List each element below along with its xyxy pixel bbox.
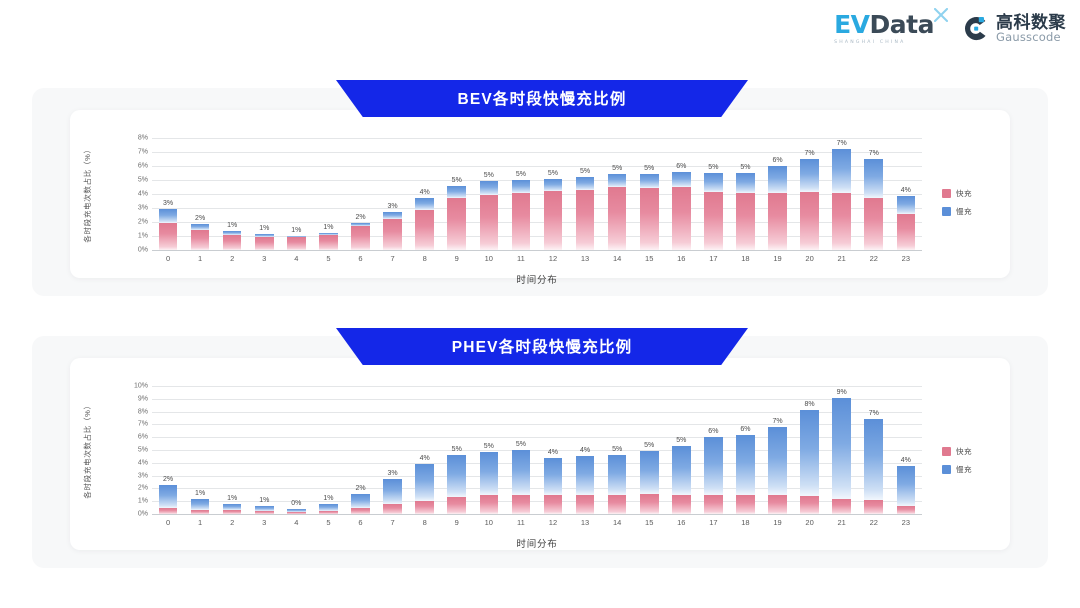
x-axis-tick: 9 <box>455 255 459 263</box>
bar-segment-slow-charge[interactable] <box>672 172 691 187</box>
bar-value-label: 5% <box>708 164 718 171</box>
x-axis-tick: 1 <box>198 519 202 527</box>
bar-column[interactable]: 5%15 <box>633 138 665 250</box>
bar-column[interactable]: 5%9 <box>441 138 473 250</box>
bar-group: 2%01%11%21%30%41%52%63%74%85%95%105%114%… <box>152 386 922 514</box>
x-axis-tick: 14 <box>613 255 621 263</box>
bar-segment-fast-charge[interactable] <box>768 193 787 250</box>
gausscode-logo: 高科数聚 Gausscode <box>962 14 1066 44</box>
bar-segment-fast-charge[interactable] <box>672 495 691 514</box>
bar-segment-fast-charge[interactable] <box>191 510 210 514</box>
bar-value-label: 5% <box>676 437 686 444</box>
bar-column[interactable]: 5%16 <box>665 386 697 514</box>
bar-column[interactable]: 1%3 <box>248 138 280 250</box>
bar-segment-slow-charge[interactable] <box>544 458 563 496</box>
x-axis-tick: 11 <box>517 255 525 263</box>
x-axis-title: 时间分布 <box>152 536 922 550</box>
bar-segment-fast-charge[interactable] <box>736 193 755 250</box>
x-axis-tick: 12 <box>549 255 557 263</box>
bar-segment-slow-charge[interactable] <box>576 456 595 495</box>
bar-column[interactable]: 7%21 <box>826 138 858 250</box>
bar-segment-fast-charge[interactable] <box>159 508 178 514</box>
bar-segment-fast-charge[interactable] <box>319 511 338 514</box>
x-axis-tick: 9 <box>455 519 459 527</box>
stacked-bar[interactable]: 1% <box>223 231 242 250</box>
bar-segment-fast-charge[interactable] <box>319 235 338 250</box>
stacked-bar[interactable]: 5% <box>704 173 723 250</box>
bar-segment-fast-charge[interactable] <box>351 226 370 250</box>
bev-title-ribbon: BEV各时段快慢充比例 <box>336 80 748 117</box>
stacked-bar[interactable]: 5% <box>576 177 595 250</box>
bar-segment-fast-charge[interactable] <box>512 495 531 514</box>
x-axis-tick: 23 <box>902 255 910 263</box>
bar-segment-slow-charge[interactable] <box>768 166 787 193</box>
bar-segment-fast-charge[interactable] <box>864 500 883 514</box>
bar-column[interactable]: 5%14 <box>601 386 633 514</box>
stacked-bar[interactable]: 2% <box>159 485 178 514</box>
x-axis-tick: 5 <box>326 519 330 527</box>
y-axis-label: 各时段充电次数占比（%） <box>82 386 93 514</box>
bar-column[interactable]: 4%23 <box>890 138 922 250</box>
bar-segment-fast-charge[interactable] <box>447 497 466 514</box>
stacked-bar[interactable]: 7% <box>864 419 883 514</box>
y-axis-tick: 6% <box>138 434 148 441</box>
stacked-bar[interactable]: 5% <box>672 446 691 514</box>
bar-segment-fast-charge[interactable] <box>608 187 627 250</box>
x-axis-tick: 18 <box>741 255 749 263</box>
stacked-bar[interactable]: 6% <box>672 172 691 250</box>
bar-segment-slow-charge[interactable] <box>512 180 531 193</box>
bar-segment-fast-charge[interactable] <box>864 198 883 250</box>
stacked-bar[interactable]: 5% <box>512 180 531 250</box>
plot-area: 0%1%2%3%4%5%6%7%8%9%10%2%01%11%21%30%41%… <box>152 386 922 514</box>
bar-segment-slow-charge[interactable] <box>383 479 402 505</box>
bar-segment-fast-charge[interactable] <box>640 188 659 250</box>
y-axis-tick: 0% <box>138 511 148 518</box>
bar-segment-slow-charge[interactable] <box>897 466 916 506</box>
bar-group: 3%02%11%21%31%41%52%63%74%85%95%105%115%… <box>152 138 922 250</box>
y-axis-tick: 7% <box>138 421 148 428</box>
bar-segment-slow-charge[interactable] <box>832 398 851 499</box>
x-axis-tick: 8 <box>423 519 427 527</box>
bar-column[interactable]: 0%4 <box>280 386 312 514</box>
bar-value-label: 3% <box>388 203 398 210</box>
bar-column[interactable]: 1%3 <box>248 386 280 514</box>
bar-column[interactable]: 5%9 <box>441 386 473 514</box>
bar-segment-slow-charge[interactable] <box>608 174 627 187</box>
bar-segment-fast-charge[interactable] <box>672 187 691 250</box>
bar-column[interactable]: 9%21 <box>826 386 858 514</box>
bar-column[interactable]: 3%0 <box>152 138 184 250</box>
bar-value-label: 6% <box>708 428 718 435</box>
bar-segment-slow-charge[interactable] <box>351 494 370 507</box>
bar-segment-fast-charge[interactable] <box>544 495 563 514</box>
bar-column[interactable]: 5%13 <box>569 138 601 250</box>
bar-value-label: 5% <box>484 443 494 450</box>
bar-segment-slow-charge[interactable] <box>864 419 883 500</box>
x-axis-tick: 7 <box>390 519 394 527</box>
bar-segment-fast-charge[interactable] <box>512 193 531 250</box>
bar-column[interactable]: 5%18 <box>729 138 761 250</box>
bar-segment-fast-charge[interactable] <box>480 495 499 514</box>
bar-value-label: 1% <box>227 495 237 502</box>
x-axis-tick: 13 <box>581 519 589 527</box>
bar-segment-slow-charge[interactable] <box>512 450 531 495</box>
bar-column[interactable]: 1%5 <box>312 138 344 250</box>
bar-segment-slow-charge[interactable] <box>415 198 434 210</box>
legend-swatch <box>942 465 951 474</box>
stacked-bar[interactable]: 4% <box>544 458 563 514</box>
bar-value-label: 1% <box>291 227 301 234</box>
stacked-bar[interactable]: 6% <box>736 435 755 514</box>
bar-value-label: 9% <box>837 389 847 396</box>
stacked-bar[interactable]: 2% <box>351 494 370 514</box>
bar-segment-slow-charge[interactable] <box>159 485 178 508</box>
stacked-bar[interactable]: 4% <box>897 196 916 250</box>
legend-item[interactable]: 慢充 <box>942 464 972 475</box>
x-axis-tick: 6 <box>358 255 362 263</box>
phev-card: 各时段充电次数占比（%）0%1%2%3%4%5%6%7%8%9%10%2%01%… <box>70 358 1010 550</box>
y-axis-tick: 8% <box>138 135 148 142</box>
x-axis-tick: 21 <box>838 519 846 527</box>
bar-value-label: 5% <box>612 165 622 172</box>
bar-segment-fast-charge[interactable] <box>255 237 274 250</box>
bar-column[interactable]: 7%20 <box>794 138 826 250</box>
y-axis-tick: 3% <box>138 472 148 479</box>
stacked-bar[interactable]: 1% <box>255 234 274 250</box>
bar-segment-fast-charge[interactable] <box>287 512 306 514</box>
y-axis-tick: 10% <box>134 383 148 390</box>
bar-value-label: 5% <box>740 164 750 171</box>
bar-value-label: 4% <box>548 449 558 456</box>
bar-column[interactable]: 6%16 <box>665 138 697 250</box>
bar-column[interactable]: 7%22 <box>858 138 890 250</box>
bar-segment-slow-charge[interactable] <box>447 455 466 497</box>
bar-value-label: 4% <box>420 455 430 462</box>
x-axis-line <box>152 250 922 251</box>
bar-value-label: 6% <box>772 157 782 164</box>
bar-value-label: 4% <box>901 457 911 464</box>
stacked-bar[interactable]: 9% <box>832 398 851 514</box>
stacked-bar[interactable]: 1% <box>287 236 306 250</box>
stacked-bar[interactable]: 5% <box>608 174 627 250</box>
bar-column[interactable]: 6%19 <box>761 138 793 250</box>
x-axis-tick: 16 <box>677 519 685 527</box>
stacked-bar[interactable]: 5% <box>736 173 755 250</box>
bar-segment-fast-charge[interactable] <box>736 495 755 514</box>
bar-column[interactable]: 2%1 <box>184 138 216 250</box>
y-axis-tick: 3% <box>138 205 148 212</box>
y-axis-tick: 7% <box>138 149 148 156</box>
stacked-bar[interactable]: 5% <box>512 450 531 514</box>
bar-column[interactable]: 5%11 <box>505 138 537 250</box>
y-axis-tick: 1% <box>138 498 148 505</box>
bar-segment-fast-charge[interactable] <box>544 191 563 251</box>
legend-label: 快充 <box>956 188 972 199</box>
bar-value-label: 2% <box>355 485 365 492</box>
bar-value-label: 4% <box>420 189 430 196</box>
x-axis-tick: 13 <box>581 255 589 263</box>
evdata-logo: EVData SHANGHAI CHINA <box>834 12 948 45</box>
bar-segment-fast-charge[interactable] <box>191 230 210 250</box>
stacked-bar[interactable]: 5% <box>608 455 627 514</box>
plot-area: 0%1%2%3%4%5%6%7%8%3%02%11%21%31%41%52%63… <box>152 138 922 250</box>
bar-segment-slow-charge[interactable] <box>864 159 883 198</box>
stacked-bar[interactable]: 3% <box>383 479 402 514</box>
phev-panel: 各时段充电次数占比（%）0%1%2%3%4%5%6%7%8%9%10%2%01%… <box>32 336 1048 568</box>
phev-title-ribbon: PHEV各时段快慢充比例 <box>336 328 748 365</box>
bar-value-label: 5% <box>644 165 654 172</box>
legend-label: 慢充 <box>956 206 972 217</box>
x-axis-tick: 0 <box>166 255 170 263</box>
bar-value-label: 5% <box>484 172 494 179</box>
stacked-bar[interactable]: 5% <box>480 181 499 250</box>
bar-segment-fast-charge[interactable] <box>832 499 851 514</box>
stacked-bar[interactable]: 5% <box>447 455 466 514</box>
x-axis-tick: 17 <box>709 255 717 263</box>
bar-segment-slow-charge[interactable] <box>704 173 723 192</box>
bar-segment-slow-charge[interactable] <box>640 174 659 187</box>
legend-label: 快充 <box>956 446 972 457</box>
x-axis-tick: 2 <box>230 519 234 527</box>
bar-column[interactable]: 3%7 <box>377 386 409 514</box>
stacked-bar[interactable]: 5% <box>447 186 466 250</box>
bar-segment-slow-charge[interactable] <box>480 452 499 496</box>
x-axis-tick: 19 <box>773 255 781 263</box>
bar-segment-fast-charge[interactable] <box>704 192 723 250</box>
bar-segment-fast-charge[interactable] <box>351 508 370 514</box>
stacked-bar[interactable]: 6% <box>704 437 723 514</box>
stacked-bar[interactable]: 1% <box>191 499 210 514</box>
bar-segment-fast-charge[interactable] <box>255 511 274 514</box>
bar-column[interactable]: 5%14 <box>601 138 633 250</box>
x-axis-line <box>152 514 922 515</box>
stacked-bar[interactable]: 5% <box>480 452 499 514</box>
bar-column[interactable]: 7%22 <box>858 386 890 514</box>
gausscode-cn-text: 高科数聚 <box>996 14 1066 32</box>
bar-value-label: 5% <box>612 446 622 453</box>
bar-value-label: 1% <box>323 495 333 502</box>
legend-item[interactable]: 慢充 <box>942 206 972 217</box>
y-axis-tick: 5% <box>138 177 148 184</box>
bar-column[interactable]: 2%0 <box>152 386 184 514</box>
x-axis-tick: 3 <box>262 519 266 527</box>
x-axis-tick: 15 <box>645 255 653 263</box>
x-axis-tick: 21 <box>838 255 846 263</box>
bar-column[interactable]: 7%19 <box>761 386 793 514</box>
bar-segment-slow-charge[interactable] <box>544 179 563 191</box>
gausscode-wordmark: 高科数聚 Gausscode <box>996 14 1066 44</box>
x-axis-tick: 6 <box>358 519 362 527</box>
bar-segment-slow-charge[interactable] <box>159 209 178 222</box>
x-axis-tick: 10 <box>485 519 493 527</box>
bar-segment-slow-charge[interactable] <box>736 435 755 495</box>
bar-column[interactable]: 1%5 <box>312 386 344 514</box>
stacked-bar[interactable]: 4% <box>576 456 595 514</box>
bar-column[interactable]: 1%4 <box>280 138 312 250</box>
bar-segment-slow-charge[interactable] <box>672 446 691 495</box>
bar-column[interactable]: 5%10 <box>473 138 505 250</box>
logo-group: EVData SHANGHAI CHINA 高科数聚 Gausscode <box>834 12 1066 45</box>
stacked-bar[interactable]: 7% <box>800 159 819 250</box>
stacked-bar[interactable]: 7% <box>768 427 787 514</box>
bar-value-label: 1% <box>227 222 237 229</box>
bev-panel: 各时段充电次数占比（%）0%1%2%3%4%5%6%7%8%3%02%11%21… <box>32 88 1048 296</box>
bar-segment-slow-charge[interactable] <box>319 504 338 511</box>
bar-column[interactable]: 5%17 <box>697 138 729 250</box>
y-axis-tick: 9% <box>138 395 148 402</box>
x-axis-tick: 14 <box>613 519 621 527</box>
bar-column[interactable]: 4%13 <box>569 386 601 514</box>
stacked-bar[interactable]: 5% <box>544 179 563 250</box>
bar-column[interactable]: 4%8 <box>409 386 441 514</box>
bar-column[interactable]: 4%8 <box>409 138 441 250</box>
bar-value-label: 1% <box>323 224 333 231</box>
stacked-bar[interactable]: 3% <box>383 212 402 250</box>
bar-column[interactable]: 1%2 <box>216 138 248 250</box>
stacked-bar[interactable]: 6% <box>768 166 787 250</box>
legend-item[interactable]: 快充 <box>942 188 972 199</box>
stacked-bar[interactable]: 5% <box>640 174 659 250</box>
legend-swatch <box>942 447 951 456</box>
stacked-bar[interactable]: 1% <box>255 506 274 514</box>
bar-segment-slow-charge[interactable] <box>704 437 723 495</box>
bar-segment-fast-charge[interactable] <box>383 219 402 250</box>
bar-column[interactable]: 4%23 <box>890 386 922 514</box>
bar-column[interactable]: 6%18 <box>729 386 761 514</box>
bar-segment-fast-charge[interactable] <box>608 495 627 514</box>
y-axis-tick: 5% <box>138 447 148 454</box>
bar-value-label: 7% <box>772 418 782 425</box>
bar-segment-slow-charge[interactable] <box>576 177 595 190</box>
bar-column[interactable]: 5%10 <box>473 386 505 514</box>
bar-segment-fast-charge[interactable] <box>480 195 499 250</box>
bar-value-label: 2% <box>163 476 173 483</box>
bar-column[interactable]: 1%2 <box>216 386 248 514</box>
bar-value-label: 7% <box>805 150 815 157</box>
bar-segment-fast-charge[interactable] <box>832 193 851 250</box>
gausscode-en-text: Gausscode <box>996 31 1066 43</box>
x-axis-tick: 0 <box>166 519 170 527</box>
bar-segment-slow-charge[interactable] <box>640 451 659 495</box>
bar-segment-fast-charge[interactable] <box>800 192 819 250</box>
chart-legend: 快充慢充 <box>942 188 972 217</box>
stacked-bar[interactable]: 4% <box>415 464 434 514</box>
stacked-bar[interactable]: 3% <box>159 209 178 250</box>
stacked-bar[interactable]: 5% <box>640 451 659 514</box>
bar-segment-slow-charge[interactable] <box>800 410 819 496</box>
bar-segment-slow-charge[interactable] <box>480 181 499 194</box>
legend-label: 慢充 <box>956 464 972 475</box>
bar-segment-fast-charge[interactable] <box>415 210 434 250</box>
stacked-bar[interactable]: 4% <box>897 466 916 514</box>
x-axis-tick: 5 <box>326 255 330 263</box>
evdata-subtitle: SHANGHAI CHINA <box>834 40 934 45</box>
bar-segment-fast-charge[interactable] <box>576 495 595 514</box>
bar-column[interactable]: 5%12 <box>537 138 569 250</box>
bar-segment-slow-charge[interactable] <box>415 464 434 501</box>
bar-segment-fast-charge[interactable] <box>800 496 819 514</box>
y-axis-tick: 4% <box>138 459 148 466</box>
x-axis-tick: 20 <box>805 519 813 527</box>
stacked-bar[interactable]: 7% <box>832 149 851 250</box>
stacked-bar[interactable]: 2% <box>351 223 370 250</box>
x-axis-tick: 7 <box>390 255 394 263</box>
stacked-bar[interactable]: 0% <box>287 509 306 514</box>
x-axis-tick: 11 <box>517 519 525 527</box>
bar-column[interactable]: 1%1 <box>184 386 216 514</box>
bar-value-label: 0% <box>291 500 301 507</box>
bar-column[interactable]: 2%6 <box>344 138 376 250</box>
bar-segment-slow-charge[interactable] <box>608 455 627 495</box>
bar-segment-fast-charge[interactable] <box>447 198 466 250</box>
bar-segment-slow-charge[interactable] <box>736 173 755 193</box>
evdata-wordmark: EVData <box>834 12 934 37</box>
stacked-bar[interactable]: 1% <box>319 504 338 514</box>
bar-value-label: 1% <box>259 225 269 232</box>
bar-segment-fast-charge[interactable] <box>768 495 787 514</box>
x-axis-tick: 1 <box>198 255 202 263</box>
bar-column[interactable]: 8%20 <box>794 386 826 514</box>
bar-segment-fast-charge[interactable] <box>287 237 306 250</box>
bar-value-label: 5% <box>548 170 558 177</box>
stacked-bar[interactable]: 2% <box>191 224 210 250</box>
bar-segment-slow-charge[interactable] <box>447 186 466 198</box>
bar-segment-fast-charge[interactable] <box>223 235 242 250</box>
x-axis-title: 时间分布 <box>152 272 922 286</box>
x-axis-tick: 8 <box>423 255 427 263</box>
bar-segment-fast-charge[interactable] <box>897 506 916 514</box>
stacked-bar[interactable]: 7% <box>864 159 883 250</box>
bar-segment-fast-charge[interactable] <box>159 223 178 250</box>
x-axis-tick: 19 <box>773 519 781 527</box>
bar-segment-slow-charge[interactable] <box>383 212 402 219</box>
bar-column[interactable]: 3%7 <box>377 138 409 250</box>
bar-column[interactable]: 4%12 <box>537 386 569 514</box>
bar-segment-fast-charge[interactable] <box>704 495 723 514</box>
bar-column[interactable]: 5%11 <box>505 386 537 514</box>
bar-value-label: 5% <box>452 177 462 184</box>
y-axis-label: 各时段充电次数占比（%） <box>82 138 93 250</box>
stacked-bar[interactable]: 1% <box>223 504 242 514</box>
stacked-bar[interactable]: 8% <box>800 410 819 514</box>
bar-segment-fast-charge[interactable] <box>576 190 595 250</box>
bar-column[interactable]: 5%15 <box>633 386 665 514</box>
stacked-bar[interactable]: 1% <box>319 233 338 250</box>
bar-segment-slow-charge[interactable] <box>800 159 819 192</box>
bar-value-label: 7% <box>869 150 879 157</box>
bar-segment-slow-charge[interactable] <box>897 196 916 214</box>
legend-item[interactable]: 快充 <box>942 446 972 457</box>
x-axis-tick: 16 <box>677 255 685 263</box>
y-axis-tick: 6% <box>138 163 148 170</box>
bar-column[interactable]: 2%6 <box>344 386 376 514</box>
bar-segment-slow-charge[interactable] <box>191 499 210 510</box>
bar-column[interactable]: 6%17 <box>697 386 729 514</box>
bar-segment-fast-charge[interactable] <box>897 214 916 250</box>
bar-segment-fast-charge[interactable] <box>640 494 659 514</box>
bar-segment-slow-charge[interactable] <box>832 149 851 194</box>
evdata-ev-text: EV <box>834 10 869 39</box>
bar-value-label: 3% <box>388 470 398 477</box>
bar-segment-fast-charge[interactable] <box>223 510 242 514</box>
stacked-bar[interactable]: 4% <box>415 198 434 250</box>
y-axis-tick: 0% <box>138 247 148 254</box>
bar-segment-fast-charge[interactable] <box>383 504 402 514</box>
bar-segment-fast-charge[interactable] <box>415 501 434 514</box>
bar-value-label: 8% <box>805 401 815 408</box>
bar-segment-slow-charge[interactable] <box>768 427 787 495</box>
